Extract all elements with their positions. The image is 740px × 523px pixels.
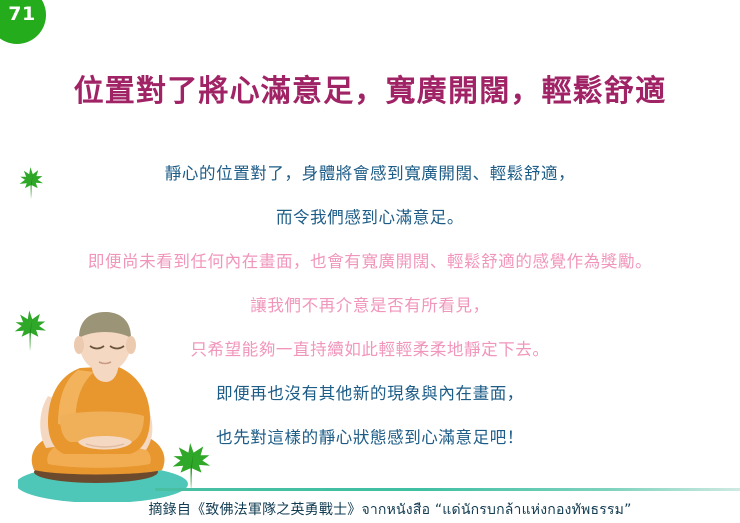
meditating-monk-illustration	[18, 312, 194, 502]
monk-ear-right	[126, 336, 136, 354]
page-number-label: 71	[0, 5, 36, 44]
footer-divider	[155, 488, 740, 491]
body-line: 靜心的位置對了，身體將會感到寬廣開闊、輕鬆舒適，	[0, 152, 740, 196]
body-line: 即便尚未看到任何內在畫面，也會有寬廣開闊、輕鬆舒適的感覺作為獎勵。	[0, 240, 740, 284]
leaf-icon	[16, 166, 46, 200]
slide-title: 位置對了將心滿意足，寬廣開闊，輕鬆舒適	[0, 66, 740, 110]
monk-ear-left	[74, 336, 84, 354]
body-line: 而令我們感到心滿意足。	[0, 196, 740, 240]
footer-credit: 摘錄自《致佛法軍隊之英勇戰士》จากหนังสือ “แด่นักรบกล้าแ…	[0, 499, 740, 521]
page-number-badge: 71	[0, 0, 46, 44]
